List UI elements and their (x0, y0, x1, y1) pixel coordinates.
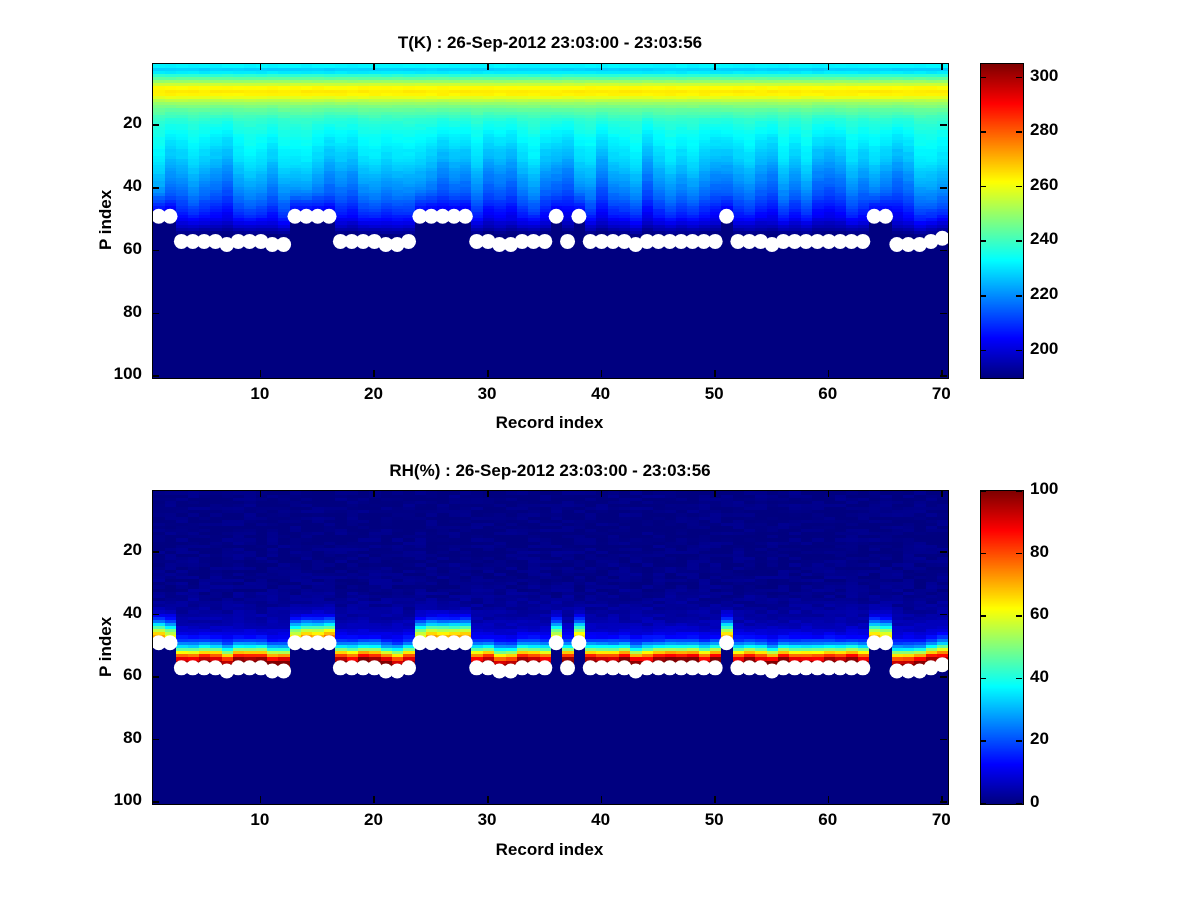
temperature-xtick-top (941, 63, 943, 70)
temperature-yticklabel: 20 (76, 113, 142, 133)
humidity-xtick-top (714, 490, 716, 497)
temperature-xtick-top (601, 63, 603, 70)
matlab-figure-window: T(K) : 26-Sep-2012 23:03:00 - 23:03:56 P… (0, 0, 1200, 900)
temperature-cbtick-right (1016, 350, 1022, 352)
humidity-cbtick-right (1016, 803, 1022, 805)
temperature-xticklabel: 30 (457, 384, 517, 404)
temperature-xtick (828, 370, 830, 377)
humidity-xtick (373, 796, 375, 803)
temperature-cbticklabel: 260 (1030, 175, 1058, 195)
temperature-cbtick-right (1016, 240, 1022, 242)
temperature-cbtick-right (1016, 295, 1022, 297)
temperature-xtick (487, 370, 489, 377)
humidity-cbtick-left (980, 553, 986, 555)
temperature-ytick-right (940, 250, 947, 252)
temperature-ytick-right (940, 313, 947, 315)
temperature-cbtick-left (980, 77, 986, 79)
humidity-panel: RH(%) : 26-Sep-2012 23:03:00 - 23:03:56 … (0, 450, 1200, 900)
humidity-yticklabel: 100 (76, 790, 142, 810)
humidity-cbtick-left (980, 740, 986, 742)
temperature-cbticklabel: 220 (1030, 284, 1058, 304)
humidity-xticklabel: 10 (230, 810, 290, 830)
humidity-ytick-right (940, 739, 947, 741)
humidity-cbticklabel: 60 (1030, 604, 1049, 624)
temperature-panel: T(K) : 26-Sep-2012 23:03:00 - 23:03:56 P… (0, 0, 1200, 450)
humidity-xtick (601, 796, 603, 803)
humidity-ytick-right (940, 676, 947, 678)
humidity-ytick-right (940, 801, 947, 803)
humidity-cbticklabel: 20 (1030, 729, 1049, 749)
temperature-xtick-top (373, 63, 375, 70)
humidity-yticklabel: 80 (76, 728, 142, 748)
humidity-plot-title: RH(%) : 26-Sep-2012 23:03:00 - 23:03:56 (152, 461, 948, 481)
humidity-ytick (152, 614, 159, 616)
temperature-cbtick-right (1016, 77, 1022, 79)
temperature-xtick (373, 370, 375, 377)
humidity-xtick-top (260, 490, 262, 497)
temperature-cbtick-right (1016, 186, 1022, 188)
humidity-xtick (714, 796, 716, 803)
humidity-xtick-top (487, 490, 489, 497)
temperature-xticklabel: 20 (343, 384, 403, 404)
temperature-ytick (152, 250, 159, 252)
temperature-cbtick-left (980, 240, 986, 242)
humidity-heatmap-axes[interactable] (152, 490, 949, 805)
humidity-xtick-top (828, 490, 830, 497)
humidity-xtick-top (601, 490, 603, 497)
temperature-xtick-top (487, 63, 489, 70)
humidity-xticklabel: 60 (798, 810, 858, 830)
humidity-yticklabel: 60 (76, 665, 142, 685)
humidity-cbtick-right (1016, 490, 1022, 492)
humidity-xticklabel: 20 (343, 810, 403, 830)
temperature-xticklabel: 40 (571, 384, 631, 404)
temperature-yticklabel: 60 (76, 239, 142, 259)
temperature-ytick (152, 187, 159, 189)
temperature-cbtick-right (1016, 131, 1022, 133)
temperature-ytick (152, 375, 159, 377)
humidity-cbtick-left (980, 678, 986, 680)
temperature-xtick-top (828, 63, 830, 70)
temperature-xtick (714, 370, 716, 377)
humidity-ytick (152, 801, 159, 803)
humidity-xticklabel: 30 (457, 810, 517, 830)
temperature-heatmap-axes[interactable] (152, 63, 949, 379)
humidity-cbticklabel: 0 (1030, 792, 1039, 812)
humidity-xticklabel: 50 (684, 810, 744, 830)
temperature-cbticklabel: 300 (1030, 66, 1058, 86)
humidity-xtick-top (941, 490, 943, 497)
temperature-colorbar[interactable] (980, 63, 1024, 379)
humidity-cbtick-left (980, 803, 986, 805)
temperature-cbtick-left (980, 131, 986, 133)
humidity-ytick-right (940, 614, 947, 616)
temperature-ytick (152, 124, 159, 126)
temperature-cbtick-left (980, 350, 986, 352)
humidity-cbtick-right (1016, 553, 1022, 555)
temperature-cbticklabel: 200 (1030, 339, 1058, 359)
temperature-yticklabel: 80 (76, 302, 142, 322)
humidity-yticklabel: 40 (76, 603, 142, 623)
temperature-cbticklabel: 280 (1030, 120, 1058, 140)
temperature-x-axis-label: Record index (152, 413, 947, 433)
humidity-cbtick-right (1016, 678, 1022, 680)
humidity-yticklabel: 20 (76, 540, 142, 560)
temperature-xticklabel: 10 (230, 384, 290, 404)
humidity-cbticklabel: 80 (1030, 542, 1049, 562)
humidity-ytick (152, 551, 159, 553)
temperature-xtick (601, 370, 603, 377)
humidity-xticklabel: 70 (911, 810, 971, 830)
humidity-xticklabel: 40 (571, 810, 631, 830)
humidity-xtick (487, 796, 489, 803)
temperature-cbticklabel: 240 (1030, 229, 1058, 249)
humidity-colorbar[interactable] (980, 490, 1024, 805)
humidity-cbtick-left (980, 490, 986, 492)
humidity-xtick-top (373, 490, 375, 497)
temperature-xtick (260, 370, 262, 377)
humidity-ytick-right (940, 551, 947, 553)
humidity-x-axis-label: Record index (152, 840, 947, 860)
temperature-cbtick-left (980, 186, 986, 188)
temperature-ytick-right (940, 187, 947, 189)
temperature-cbtick-left (980, 295, 986, 297)
temperature-xticklabel: 50 (684, 384, 744, 404)
humidity-cbticklabel: 100 (1030, 479, 1058, 499)
humidity-cbtick-left (980, 615, 986, 617)
humidity-cbtick-right (1016, 740, 1022, 742)
temperature-xtick-top (714, 63, 716, 70)
humidity-xtick (828, 796, 830, 803)
humidity-ytick (152, 676, 159, 678)
temperature-plot-title: T(K) : 26-Sep-2012 23:03:00 - 23:03:56 (152, 33, 948, 53)
humidity-xtick (260, 796, 262, 803)
temperature-xticklabel: 60 (798, 384, 858, 404)
temperature-xtick-top (260, 63, 262, 70)
temperature-xticklabel: 70 (911, 384, 971, 404)
temperature-ytick-right (940, 124, 947, 126)
humidity-cbtick-right (1016, 615, 1022, 617)
temperature-ytick (152, 313, 159, 315)
humidity-cbticklabel: 40 (1030, 667, 1049, 687)
temperature-yticklabel: 40 (76, 176, 142, 196)
temperature-ytick-right (940, 375, 947, 377)
temperature-yticklabel: 100 (76, 364, 142, 384)
humidity-ytick (152, 739, 159, 741)
